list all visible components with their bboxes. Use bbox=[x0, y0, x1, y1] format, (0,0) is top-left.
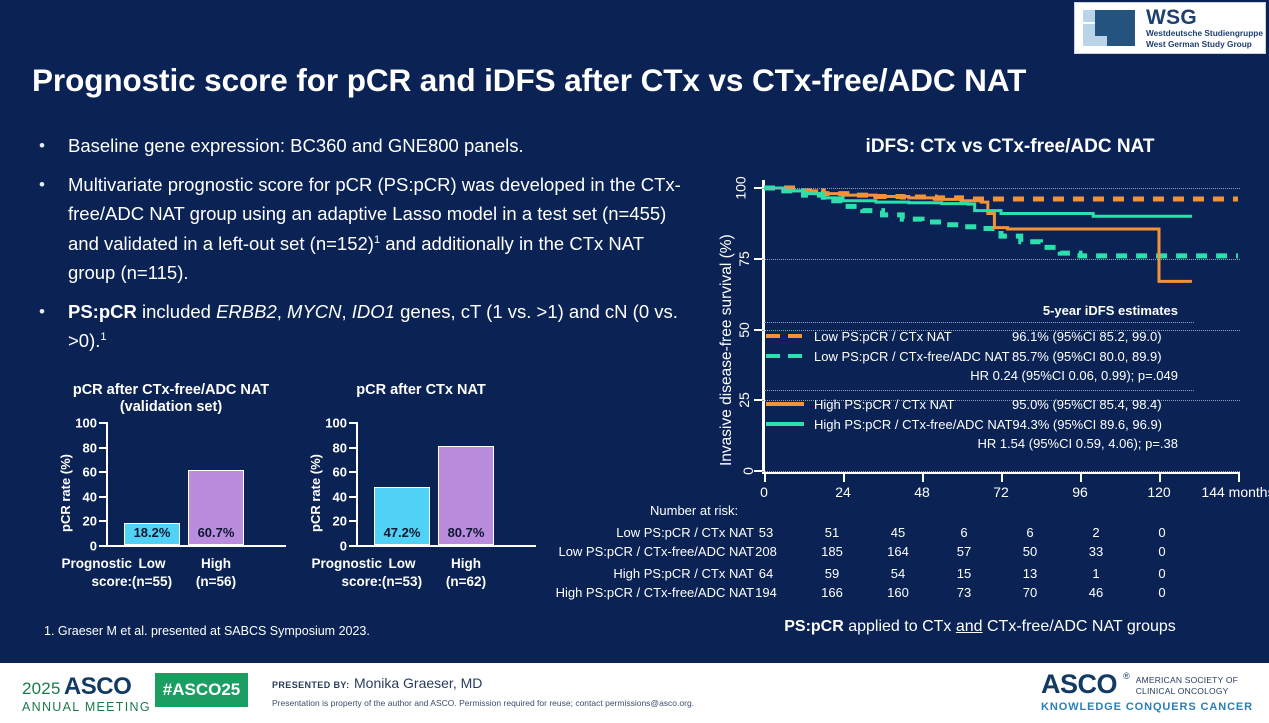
legend-line-icon bbox=[766, 422, 804, 426]
km-chart-title: iDFS: CTx vs CTx-free/ADC NAT bbox=[760, 136, 1260, 158]
bar-x-axis-label: Prognosticscore: bbox=[46, 555, 132, 591]
bar-y-tick-label: 100 bbox=[75, 416, 97, 431]
risk-cell: 45 bbox=[891, 525, 905, 540]
legend-row: High PS:pCR / CTx NAT95.0% (95%CI 85.4, … bbox=[764, 394, 1194, 414]
risk-cell: 64 bbox=[759, 566, 773, 581]
bar-value-label: 60.7% bbox=[198, 525, 235, 540]
wsg-logo-sub-de: Westdeutsche Studiengruppe bbox=[1146, 28, 1263, 38]
legend-line-icon bbox=[766, 402, 804, 406]
bar-y-tick-label: 80 bbox=[333, 440, 347, 455]
bullet-marker-icon: • bbox=[34, 131, 68, 161]
risk-cell: 0 bbox=[1158, 585, 1165, 600]
bullet-text-3: PS:pCR included ERBB2, MYCN, IDO1 genes,… bbox=[68, 297, 694, 356]
page-title: Prognostic score for pCR and iDFS after … bbox=[32, 62, 1247, 99]
risk-table-row: High PS:pCR / CTx-free/ADC NAT1941661607… bbox=[592, 585, 1212, 604]
bar-y-tick-label: 60 bbox=[83, 465, 97, 480]
risk-table-title: Number at risk: bbox=[650, 503, 738, 518]
bullet-3-a: included bbox=[137, 301, 216, 322]
risk-cell: 57 bbox=[957, 544, 971, 559]
bar-y-tick bbox=[99, 545, 106, 547]
asco-logo-year: 2025 bbox=[22, 679, 61, 698]
km-y-tick-label: 25 bbox=[736, 392, 752, 408]
risk-cell: 0 bbox=[1158, 544, 1165, 559]
bar-y-tick bbox=[349, 447, 356, 449]
km-legend: 5-year iDFS estimates Low PS:pCR / CTx N… bbox=[764, 303, 1194, 454]
bar-y-tick-label: 20 bbox=[83, 514, 97, 529]
km-conclusion-mid: applied to CTx bbox=[844, 618, 956, 635]
legend-value: 85.7% (95%CI 80.0, 89.9) bbox=[1012, 349, 1194, 364]
legend-value: 94.3% (95%CI 89.6, 96.9) bbox=[1012, 417, 1194, 432]
bar-chart-2-ylabel: pCR rate (%) bbox=[308, 454, 323, 532]
bar-chart-1-title: pCR after CTx-free/ADC NAT bbox=[46, 382, 296, 398]
registered-mark-icon: ® bbox=[1123, 671, 1130, 681]
legend-divider bbox=[764, 322, 1194, 323]
bar-y-tick bbox=[349, 471, 356, 473]
presented-by-block: PRESENTED BY: Monika Graeser, MD bbox=[272, 675, 482, 693]
asco-brand-logo: ASCO ® AMERICAN SOCIETY OF CLINICAL ONCO… bbox=[1041, 671, 1253, 713]
km-x-tick-label: 144 months bbox=[1201, 484, 1269, 500]
legend-row: High PS:pCR / CTx-free/ADC NAT94.3% (95%… bbox=[764, 414, 1194, 434]
reference-footnote: 1. Graeser M et al. presented at SABCS S… bbox=[44, 624, 370, 638]
risk-cell: 2 bbox=[1092, 525, 1099, 540]
risk-cell: 46 bbox=[1089, 585, 1103, 600]
km-hr-high: HR 1.54 (95%CI 0.59, 4.06); p=.38 bbox=[764, 434, 1194, 454]
bullet-3-lead: PS:pCR bbox=[68, 301, 137, 322]
risk-cell: 6 bbox=[960, 525, 967, 540]
legend-row: Low PS:pCR / CTx-free/ADC NAT85.7% (95%C… bbox=[764, 346, 1194, 366]
legend-label: Low PS:pCR / CTx NAT bbox=[814, 329, 1012, 344]
presenter-name: Monika Graeser, MD bbox=[354, 675, 482, 691]
legend-dash-icon bbox=[788, 354, 802, 358]
km-x-tick bbox=[922, 474, 924, 482]
bar-y-tick bbox=[99, 520, 106, 522]
risk-cell: 73 bbox=[957, 585, 971, 600]
bar-y-tick-label: 40 bbox=[333, 489, 347, 504]
slide-footer: 2025 ASCO ANNUAL MEETING #ASCO25 PRESENT… bbox=[0, 663, 1269, 723]
risk-cell: 0 bbox=[1158, 566, 1165, 581]
bar-category-label: High bbox=[172, 555, 260, 573]
wsg-logo-mark bbox=[1081, 8, 1139, 48]
risk-cell: 0 bbox=[1158, 525, 1165, 540]
legend-group-low: Low PS:pCR / CTx NAT96.1% (95%CI 85.2, 9… bbox=[764, 326, 1194, 366]
risk-cell: 70 bbox=[1023, 585, 1037, 600]
asco-brand-word: ASCO bbox=[1041, 671, 1117, 698]
risk-cell: 13 bbox=[1023, 566, 1037, 581]
bar-y-tick-label: 60 bbox=[333, 465, 347, 480]
wsg-logo-name: WSG bbox=[1146, 7, 1263, 28]
bar-y-tick-label: 20 bbox=[333, 514, 347, 529]
legend-label: High PS:pCR / CTx-free/ADC NAT bbox=[814, 417, 1012, 432]
bullet-list: • Baseline gene expression: BC360 and GN… bbox=[34, 131, 694, 365]
asco-brand-subtitle: AMERICAN SOCIETY OF CLINICAL ONCOLOGY bbox=[1136, 671, 1238, 696]
legend-swatch bbox=[764, 417, 806, 431]
bullet-marker-icon: • bbox=[34, 297, 68, 356]
risk-cell: 6 bbox=[1026, 525, 1033, 540]
risk-row-label: High PS:pCR / CTx NAT bbox=[414, 566, 754, 581]
km-x-tick-label: 120 bbox=[1147, 484, 1170, 500]
risk-cell: 15 bbox=[957, 566, 971, 581]
risk-table-row: High PS:pCR / CTx NAT645954151310 bbox=[592, 566, 1212, 585]
bar-y-tick-label: 0 bbox=[90, 539, 97, 554]
bar-y-tick-label: 100 bbox=[325, 416, 347, 431]
asco-logo-word: ASCO bbox=[64, 673, 131, 700]
legend-value: 95.0% (95%CI 85.4, 98.4) bbox=[1012, 397, 1194, 412]
presented-by-label: PRESENTED BY: bbox=[272, 680, 350, 690]
legend-divider bbox=[764, 390, 1194, 391]
risk-table-row: Low PS:pCR / CTx-free/ADC NAT20818516457… bbox=[592, 544, 1212, 563]
hashtag-badge: #ASCO25 bbox=[155, 673, 248, 707]
bar-plot-area: 02040608010018.2%60.7% bbox=[106, 422, 286, 547]
km-hr-low: HR 0.24 (95%CI 0.06, 0.99); p=.049 bbox=[764, 366, 1194, 386]
legend-dash-icon bbox=[788, 334, 802, 338]
risk-cell: 50 bbox=[1023, 544, 1037, 559]
bar-y-axis bbox=[356, 422, 358, 547]
bullet-marker-icon: • bbox=[34, 170, 68, 288]
asco-brand-row: ASCO ® AMERICAN SOCIETY OF CLINICAL ONCO… bbox=[1041, 671, 1253, 698]
km-legend-header: 5-year iDFS estimates bbox=[764, 303, 1194, 318]
risk-cell: 54 bbox=[891, 566, 905, 581]
risk-cell: 185 bbox=[821, 544, 843, 559]
asco-brand-sub2: CLINICAL ONCOLOGY bbox=[1136, 686, 1229, 696]
wsg-logo: WSG Westdeutsche Studiengruppe West Germ… bbox=[1074, 2, 1266, 54]
legend-label: High PS:pCR / CTx NAT bbox=[814, 397, 1012, 412]
km-gridline bbox=[762, 471, 1240, 472]
km-y-tick bbox=[754, 187, 762, 189]
bar-chart-pcr-ctx: pCR after CTx NAT pCR rate (%) 020406080… bbox=[296, 382, 546, 597]
bar-rect: 18.2% bbox=[124, 523, 180, 545]
km-y-tick bbox=[754, 258, 762, 260]
bar-y-tick bbox=[349, 496, 356, 498]
km-y-tick-label: 0 bbox=[740, 467, 756, 475]
legend-row: Low PS:pCR / CTx NAT96.1% (95%CI 85.2, 9… bbox=[764, 326, 1194, 346]
bar-y-tick bbox=[349, 545, 356, 547]
asco-tagline: KNOWLEDGE CONQUERS CANCER bbox=[1041, 701, 1253, 713]
risk-cell: 160 bbox=[887, 585, 909, 600]
risk-row-label: Low PS:pCR / CTx-free/ADC NAT bbox=[414, 544, 754, 559]
bar-x-axis-label-line1: Prognostic bbox=[296, 555, 382, 573]
asco-annual-meeting-logo: 2025 ASCO ANNUAL MEETING bbox=[22, 673, 151, 714]
risk-cell: 1 bbox=[1092, 566, 1099, 581]
legend-group-high: High PS:pCR / CTx NAT95.0% (95%CI 85.4, … bbox=[764, 394, 1194, 434]
km-y-tick bbox=[754, 329, 762, 331]
bar-chart-1-subtitle: (validation set) bbox=[46, 399, 296, 415]
permission-note: Presentation is property of the author a… bbox=[272, 698, 694, 708]
bar-x-axis-label: Prognosticscore: bbox=[296, 555, 382, 591]
km-gridline bbox=[762, 259, 1240, 260]
km-x-tick-label: 0 bbox=[760, 484, 768, 500]
legend-swatch bbox=[764, 349, 806, 363]
km-conclusion-bold: PS:pCR bbox=[784, 618, 844, 635]
risk-cell: 208 bbox=[755, 544, 777, 559]
bar-chart-1-ylabel: pCR rate (%) bbox=[58, 454, 73, 532]
bullet-text-1: Baseline gene expression: BC360 and GNE8… bbox=[68, 131, 524, 161]
km-x-tick bbox=[1080, 474, 1082, 482]
km-x-tick bbox=[843, 474, 845, 482]
risk-cell: 164 bbox=[887, 544, 909, 559]
bar-y-tick-label: 80 bbox=[83, 440, 97, 455]
bar-y-axis bbox=[106, 422, 108, 547]
legend-swatch bbox=[764, 397, 806, 411]
km-x-tick-label: 48 bbox=[914, 484, 930, 500]
gene-erbb2: ERBB2 bbox=[216, 301, 277, 322]
km-x-tick-label: 96 bbox=[1072, 484, 1088, 500]
km-x-tick-label: 24 bbox=[835, 484, 851, 500]
bar-y-tick-label: 0 bbox=[340, 539, 347, 554]
wsg-logo-sub-en: West German Study Group bbox=[1146, 39, 1263, 49]
asco-logo-annual-meeting: ANNUAL MEETING bbox=[22, 700, 151, 714]
bar-category-n: (n=56) bbox=[172, 573, 260, 591]
asco-logo-line1: 2025 ASCO bbox=[22, 673, 151, 701]
legend-value: 96.1% (95%CI 85.2, 99.0) bbox=[1012, 329, 1194, 344]
km-x-tick bbox=[1001, 474, 1003, 482]
slide-root: WSG Westdeutsche Studiengruppe West Germ… bbox=[0, 0, 1269, 723]
km-conclusion-text: PS:pCR applied to CTx and CTx-free/ADC N… bbox=[700, 618, 1260, 636]
risk-cell: 166 bbox=[821, 585, 843, 600]
bar-x-axis-label-line1: Prognostic bbox=[46, 555, 132, 573]
legend-dash-icon bbox=[766, 334, 780, 338]
bullet-item-3: • PS:pCR included ERBB2, MYCN, IDO1 gene… bbox=[34, 297, 694, 356]
km-series-2 bbox=[764, 188, 1192, 281]
risk-cell: 59 bbox=[825, 566, 839, 581]
km-conclusion-end: CTx-free/ADC NAT groups bbox=[983, 618, 1176, 635]
bar-y-tick bbox=[349, 422, 356, 424]
bar-y-tick bbox=[99, 447, 106, 449]
risk-cell: 53 bbox=[759, 525, 773, 540]
km-x-tick-label: 72 bbox=[993, 484, 1009, 500]
gene-mycn: MYCN bbox=[287, 301, 341, 322]
km-y-tick-label: 75 bbox=[736, 251, 752, 267]
risk-cell: 51 bbox=[825, 525, 839, 540]
asco-brand-sub1: AMERICAN SOCIETY OF bbox=[1136, 675, 1238, 685]
bar-rect: 60.7% bbox=[188, 470, 244, 545]
km-x-tick bbox=[1159, 474, 1161, 482]
bar-x-axis bbox=[106, 545, 286, 547]
legend-dash-icon bbox=[766, 354, 780, 358]
km-conclusion-underline: and bbox=[956, 618, 983, 635]
bar-y-tick-label: 40 bbox=[83, 489, 97, 504]
legend-swatch bbox=[764, 329, 806, 343]
legend-label: Low PS:pCR / CTx-free/ADC NAT bbox=[814, 349, 1012, 364]
risk-row-label: High PS:pCR / CTx-free/ADC NAT bbox=[414, 585, 754, 600]
bar-y-tick bbox=[99, 422, 106, 424]
bullet-item-1: • Baseline gene expression: BC360 and GN… bbox=[34, 131, 694, 161]
bar-chart-2-title: pCR after CTx NAT bbox=[296, 382, 546, 398]
bullet-text-2: Multivariate prognostic score for pCR (P… bbox=[68, 170, 694, 288]
bar-category-group: High(n=56) bbox=[172, 555, 260, 591]
risk-cell: 194 bbox=[755, 585, 777, 600]
km-gridline bbox=[762, 188, 1240, 189]
risk-cell: 33 bbox=[1089, 544, 1103, 559]
bar-x-axis-label-line2: score: bbox=[296, 573, 382, 591]
bar-y-tick bbox=[99, 496, 106, 498]
km-x-tick bbox=[764, 474, 766, 482]
km-x-tick bbox=[1238, 474, 1240, 482]
bar-y-tick bbox=[99, 471, 106, 473]
km-y-tick-label: 50 bbox=[736, 322, 752, 338]
km-y-axis-label: Invasive disease-free survival (%) bbox=[718, 234, 736, 466]
bullet-item-2: • Multivariate prognostic score for pCR … bbox=[34, 170, 694, 288]
km-y-tick bbox=[754, 399, 762, 401]
bar-value-label: 18.2% bbox=[134, 525, 171, 540]
bar-y-tick bbox=[349, 520, 356, 522]
bullet-3-sup: 1 bbox=[100, 331, 106, 343]
bar-chart-pcr-ctx-free: pCR after CTx-free/ADC NAT (validation s… bbox=[46, 382, 296, 597]
bar-x-axis-label-line2: score: bbox=[46, 573, 132, 591]
km-y-tick-label: 100 bbox=[732, 176, 748, 199]
gene-ido1: IDO1 bbox=[352, 301, 395, 322]
risk-table-row: Low PS:pCR / CTx NAT5351456620 bbox=[592, 525, 1212, 544]
risk-row-label: Low PS:pCR / CTx NAT bbox=[414, 525, 754, 540]
wsg-logo-text: WSG Westdeutsche Studiengruppe West Germ… bbox=[1146, 7, 1263, 49]
